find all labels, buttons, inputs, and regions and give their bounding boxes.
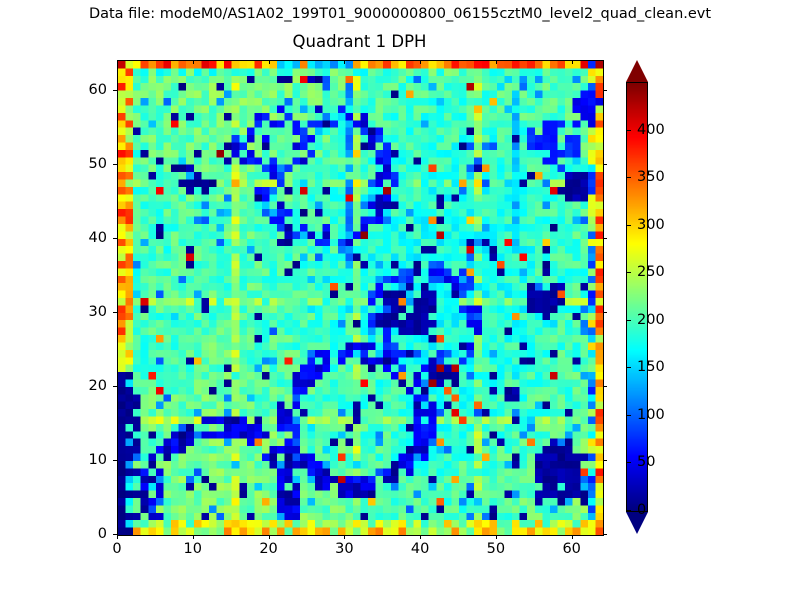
- x-tick-mark-top: [117, 60, 118, 64]
- y-tick-label: 20: [89, 378, 107, 394]
- colorbar-tick-label: 150: [637, 359, 665, 375]
- data-file-suptitle: Data file: modeM0/AS1A02_199T01_90000008…: [0, 6, 800, 22]
- colorbar-tick-mark: [626, 320, 631, 321]
- y-tick-label: 60: [89, 82, 107, 98]
- colorbar-tick-label: 250: [637, 264, 665, 280]
- colorbar-gradient: [627, 83, 647, 511]
- x-tick-label: 60: [562, 541, 580, 557]
- heatmap-plot-area[interactable]: [117, 60, 604, 536]
- x-tick-label: 30: [335, 541, 353, 557]
- y-tick-label: 10: [89, 452, 107, 468]
- x-tick-mark-top: [193, 60, 194, 64]
- colorbar-tick-label: 200: [637, 312, 665, 328]
- x-tick-mark: [572, 535, 573, 539]
- x-tick-mark-top: [344, 60, 345, 64]
- y-tick-mark-right: [603, 386, 607, 387]
- y-tick-mark-right: [603, 460, 607, 461]
- x-tick-mark-top: [496, 60, 497, 64]
- colorbar-tick-mark: [626, 367, 631, 368]
- y-tick-mark: [113, 312, 117, 313]
- y-tick-label: 0: [98, 526, 107, 542]
- x-tick-mark: [117, 535, 118, 539]
- y-tick-label: 40: [89, 230, 107, 246]
- x-tick-mark: [269, 535, 270, 539]
- x-tick-label: 50: [487, 541, 505, 557]
- y-tick-mark: [113, 460, 117, 461]
- colorbar-tick-label: 50: [637, 454, 655, 470]
- plot-title: Quadrant 1 DPH: [117, 32, 602, 51]
- y-tick-mark-right: [603, 164, 607, 165]
- colorbar-tick-mark: [626, 415, 631, 416]
- colorbar-tick-mark: [626, 510, 631, 511]
- y-tick-mark: [113, 534, 117, 535]
- y-tick-mark: [113, 386, 117, 387]
- x-tick-label: 10: [184, 541, 202, 557]
- x-tick-mark: [193, 535, 194, 539]
- colorbar-tick-mark: [626, 130, 631, 131]
- y-tick-mark-right: [603, 312, 607, 313]
- y-tick-mark: [113, 90, 117, 91]
- x-tick-mark-top: [269, 60, 270, 64]
- x-tick-label: 0: [112, 541, 121, 557]
- y-tick-label: 30: [89, 304, 107, 320]
- x-tick-mark: [344, 535, 345, 539]
- x-tick-label: 20: [259, 541, 277, 557]
- y-tick-label: 50: [89, 156, 107, 172]
- matplotlib-figure: Data file: modeM0/AS1A02_199T01_90000008…: [0, 0, 800, 600]
- colorbar-tick-mark: [626, 225, 631, 226]
- x-tick-label: 40: [411, 541, 429, 557]
- y-tick-mark: [113, 164, 117, 165]
- colorbar-tick-mark: [626, 177, 631, 178]
- colorbar-tick-label: 0: [637, 502, 646, 518]
- detector-heatmap-image[interactable]: [118, 61, 603, 535]
- colorbar-tick-label: 400: [637, 122, 665, 138]
- y-tick-mark-right: [603, 90, 607, 91]
- x-tick-mark: [496, 535, 497, 539]
- y-tick-mark-right: [603, 534, 607, 535]
- colorbar-tick-mark: [626, 462, 631, 463]
- colorbar-tick-label: 100: [637, 407, 665, 423]
- x-tick-mark-top: [572, 60, 573, 64]
- colorbar-tick-label: 350: [637, 169, 665, 185]
- y-tick-mark: [113, 238, 117, 239]
- y-tick-mark-right: [603, 238, 607, 239]
- x-tick-mark: [420, 535, 421, 539]
- colorbar-tick-mark: [626, 272, 631, 273]
- colorbar-tick-label: 300: [637, 217, 665, 233]
- colorbar-body: [626, 82, 648, 512]
- colorbar-extend-max-arrow: [626, 60, 648, 82]
- x-tick-mark-top: [420, 60, 421, 64]
